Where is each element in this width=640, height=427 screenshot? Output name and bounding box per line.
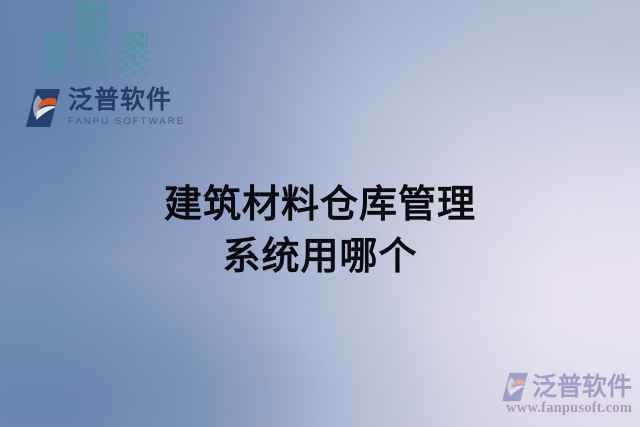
fanpu-hexagon-swoosh-logo-icon [24,88,62,128]
page-title: 建筑材料仓库管理 系统用哪个 [0,178,640,282]
watermark-url: www.fanpusoft.com [480,400,632,417]
fanpu-hexagon-swoosh-logo-icon [500,372,530,402]
brand-logo: 泛普软件 FANPU SOFTWARE [24,86,184,140]
brand-name-en: FANPU SOFTWARE [68,116,185,127]
poster-canvas: 泛普软件 FANPU SOFTWARE 建筑材料仓库管理 系统用哪个 泛普软件 … [0,0,640,427]
watermark: 泛普软件 www.fanpusoft.com [480,372,632,417]
pixel-skyline-towers-icon [42,0,182,86]
watermark-logo-row: 泛普软件 [480,372,632,402]
brand-wordmark: 泛普软件 FANPU SOFTWARE [68,86,185,127]
watermark-name-cn: 泛普软件 [532,373,632,401]
brand-name-cn: 泛普软件 [68,86,185,114]
